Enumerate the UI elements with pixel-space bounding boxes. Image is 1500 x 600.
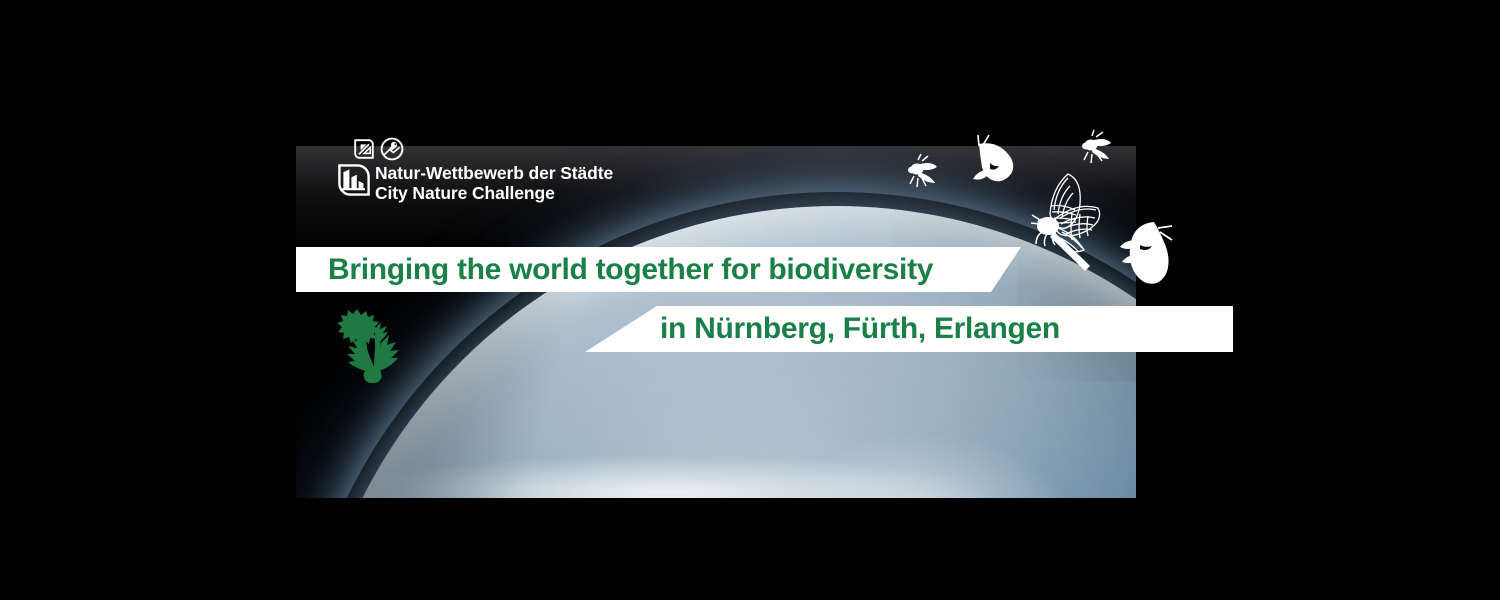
logo-line-german: Natur-Wettbewerb der Städte <box>375 164 613 184</box>
leaf-icon <box>352 137 376 161</box>
city-nature-challenge-logo[interactable]: Natur-Wettbewerb der Städte City Nature … <box>337 137 637 209</box>
dandelion-plant-illustration <box>318 302 422 394</box>
logo-wordmark: Natur-Wettbewerb der Städte City Nature … <box>375 164 613 203</box>
cityscape-icon <box>337 163 371 202</box>
dragonfly-illustration <box>1014 170 1124 280</box>
city-nature-challenge-banner: Natur-Wettbewerb der Städte City Nature … <box>0 0 1500 600</box>
logo-icon-group <box>352 137 404 161</box>
logo-line-english: City Nature Challenge <box>375 184 613 204</box>
headline-line-1: Bringing the world together for biodiver… <box>328 253 933 287</box>
bee-illustration-left <box>898 152 944 196</box>
headline-banner-primary: Bringing the world together for biodiver… <box>296 247 1021 292</box>
bee-illustration-right <box>1072 128 1118 172</box>
moth-illustration-right <box>1120 198 1198 286</box>
headline-line-2: in Nürnberg, Fürth, Erlangen <box>660 312 1060 346</box>
bird-icon <box>380 137 404 161</box>
headline-banner-secondary: in Nürnberg, Fürth, Erlangen <box>585 306 1233 352</box>
